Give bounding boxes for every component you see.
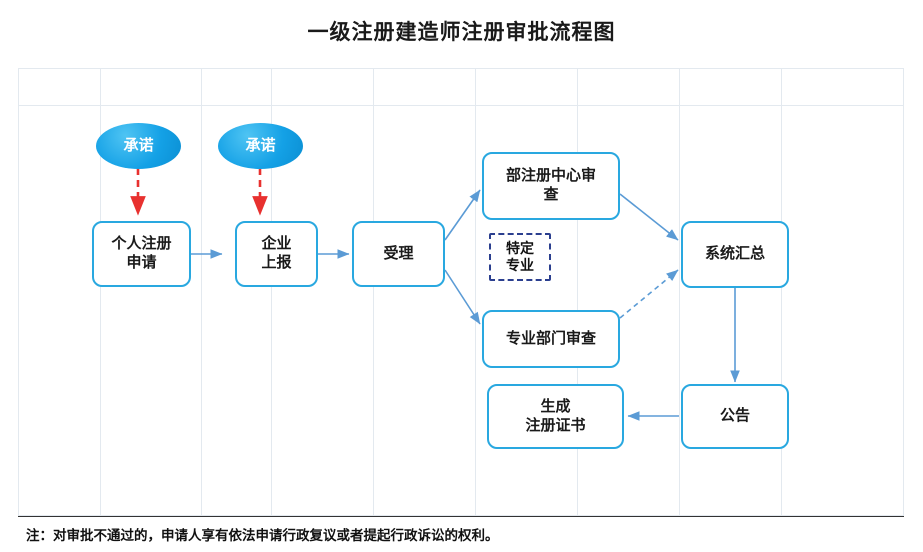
- node-label: 承诺: [245, 137, 275, 156]
- grid-line-v: [679, 68, 680, 516]
- grid-line-h: [18, 68, 904, 69]
- node-label-line1: 公告: [720, 407, 750, 426]
- node-company-report[interactable]: 企业 上报: [235, 221, 318, 287]
- node-label-line1: 特定: [506, 240, 534, 258]
- grid-line-v: [903, 68, 904, 516]
- node-label-line1: 企业: [261, 235, 291, 254]
- node-label-line1: 生成: [525, 398, 585, 417]
- node-announcement[interactable]: 公告: [681, 384, 789, 449]
- node-ministry-review[interactable]: 部注册中心审 查: [482, 152, 620, 220]
- node-label: 承诺: [123, 137, 153, 156]
- node-special-major[interactable]: 特定 专业: [489, 233, 551, 281]
- grid-line-v: [373, 68, 374, 516]
- footer-note: 注：对审批不通过的，申请人享有依法申请行政复议或者提起行政诉讼的权利。: [26, 524, 499, 544]
- node-label-line1: 个人注册: [111, 235, 171, 254]
- node-label-line2: 上报: [261, 254, 291, 273]
- node-label-line2: 注册证书: [525, 417, 585, 436]
- note-divider: [18, 516, 904, 517]
- page-title: 一级注册建造师注册审批流程图: [0, 16, 923, 46]
- node-generate-cert[interactable]: 生成 注册证书: [487, 384, 624, 449]
- node-system-summary[interactable]: 系统汇总: [681, 221, 789, 288]
- node-accept[interactable]: 受理: [352, 221, 445, 287]
- node-personal-apply[interactable]: 个人注册 申请: [92, 221, 191, 287]
- node-label-line2: 查: [506, 186, 596, 205]
- node-label-line1: 系统汇总: [705, 245, 765, 264]
- grid-line-v: [475, 68, 476, 516]
- grid-line-v: [781, 68, 782, 516]
- node-label-line1: 部注册中心审: [506, 167, 596, 186]
- flowchart-page: 一级注册建造师注册审批流程图: [0, 0, 923, 552]
- node-promise-company[interactable]: 承诺: [218, 123, 303, 169]
- grid-line-v: [18, 68, 19, 516]
- node-promise-personal[interactable]: 承诺: [96, 123, 181, 169]
- node-label-line2: 专业: [506, 257, 534, 275]
- grid-line-v: [201, 68, 202, 516]
- node-label-line2: 申请: [111, 254, 171, 273]
- node-label-line1: 受理: [383, 245, 413, 264]
- node-label-line1: 专业部门审查: [506, 330, 596, 349]
- grid-line-h: [18, 105, 904, 106]
- node-dept-review[interactable]: 专业部门审查: [482, 310, 620, 368]
